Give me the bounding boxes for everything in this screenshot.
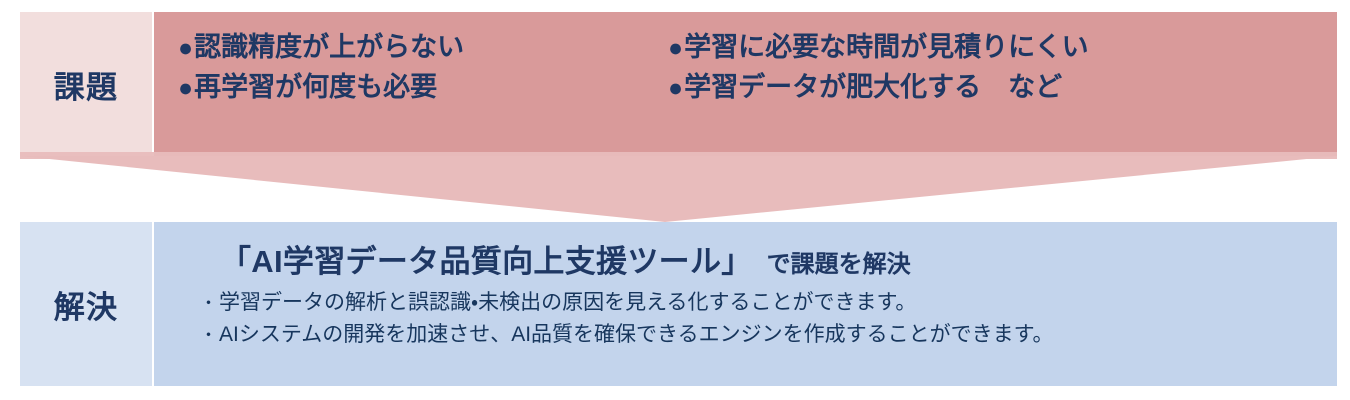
issue-item: ● 再学習が何度も必要 bbox=[178, 69, 658, 106]
bullet-icon: ● bbox=[178, 36, 193, 61]
issues-column-right: ● 学習に必要な時間が見積りにくい ● 学習データが肥大化する など bbox=[668, 29, 1089, 107]
issue-item: ● 学習データが肥大化する など bbox=[668, 69, 1089, 106]
solution-headline-suffix: で課題を解決 bbox=[767, 244, 911, 279]
issue-item-label: 再学習が何度も必要 bbox=[194, 69, 437, 106]
issues-body: ● 認識精度が上がらない ● 再学習が何度も必要 ● 学習に必要な時間が見積りに… bbox=[154, 12, 1337, 156]
issues-column-left: ● 認識精度が上がらない ● 再学習が何度も必要 bbox=[178, 29, 658, 107]
solution-headline: 「AI学習データ品質向上支援ツール」 で課題を解決 bbox=[220, 236, 911, 281]
bullet-icon: ・ bbox=[200, 323, 217, 349]
solution-panel: 解決 「AI学習データ品質向上支援ツール」 で課題を解決 ・ 学習データの解析と… bbox=[20, 222, 1337, 386]
solution-point-label: 学習データの解析と誤認識・未検出の原因を見える化することができます。 bbox=[219, 287, 916, 319]
issues-label-text: 課題 bbox=[54, 62, 118, 107]
issues-label-cell: 課題 bbox=[20, 12, 152, 156]
issue-item-label: 認識精度が上がらない bbox=[194, 29, 464, 66]
issues-panel: 課題 ● 認識精度が上がらない ● 再学習が何度も必要 ● 学習に必要な時間が見… bbox=[20, 12, 1337, 156]
down-chevron-icon bbox=[20, 156, 1337, 223]
solution-label-text: 解決 bbox=[54, 282, 118, 327]
bullet-icon: ● bbox=[668, 76, 683, 101]
issue-item: ● 認識精度が上がらない bbox=[178, 29, 658, 66]
bullet-icon: ・ bbox=[200, 291, 217, 317]
bullet-icon: ● bbox=[668, 36, 683, 61]
solution-point-label: AIシステムの開発を加速させ、AI品質を確保できるエンジンを作成することができま… bbox=[219, 319, 1054, 351]
solution-point: ・ 学習データの解析と誤認識・未検出の原因を見える化することができます。 bbox=[200, 287, 916, 319]
issue-item-label: 学習データが肥大化する など bbox=[684, 69, 1062, 106]
issue-item: ● 学習に必要な時間が見積りにくい bbox=[668, 29, 1089, 66]
solution-product-name: 「AI学習データ品質向上支援ツール」 bbox=[220, 236, 753, 281]
solution-body: 「AI学習データ品質向上支援ツール」 で課題を解決 ・ 学習データの解析と誤認識… bbox=[154, 222, 1337, 386]
bullet-icon: ● bbox=[178, 76, 193, 101]
issue-item-label: 学習に必要な時間が見積りにくい bbox=[684, 29, 1088, 66]
diagram-canvas: 課題 ● 認識精度が上がらない ● 再学習が何度も必要 ● 学習に必要な時間が見… bbox=[0, 0, 1350, 400]
solution-point: ・ AIシステムの開発を加速させ、AI品質を確保できるエンジンを作成することがで… bbox=[200, 319, 1054, 351]
solution-label-cell: 解決 bbox=[20, 222, 152, 386]
